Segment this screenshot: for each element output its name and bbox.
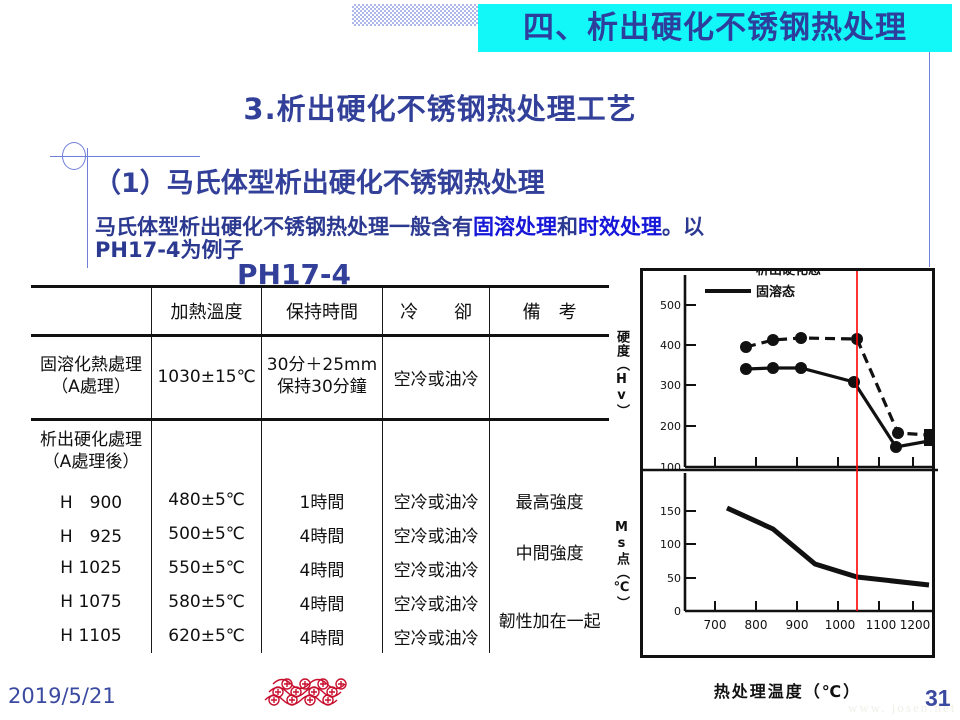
- process-table-container: 加熱溫度 保持時間 冷 卻 備 考 固溶化熱處理（A處理） 1030±15℃ 3…: [31, 285, 609, 653]
- row-h925-temperature: 500±5℃: [152, 517, 262, 551]
- table-row: H 1075 580±5℃ 4時間 空冷或油冷 韌性加在一起: [31, 585, 609, 619]
- svg-text:1000: 1000: [825, 618, 856, 632]
- table-row: 析出硬化處理（A處理後）: [31, 419, 609, 483]
- svg-text:500: 500: [660, 299, 681, 312]
- section-banner: 四、析出硬化不锈钢热处理: [478, 4, 952, 52]
- series-precipitation-hardened-markers: [740, 332, 932, 440]
- svg-text:100: 100: [660, 538, 681, 551]
- row-h1105-temperature: 620±5℃: [152, 619, 262, 653]
- svg-text:900: 900: [786, 618, 809, 632]
- paragraph-highlight-solution: 固溶处理: [473, 215, 557, 239]
- chart-top-ytick-labels: 500 400 300 200 100: [660, 299, 681, 474]
- table-row: H 900 480±5℃ 1時間 空冷或油冷 最高強度: [31, 483, 609, 517]
- row-h925-time: 4時間: [262, 517, 383, 551]
- row-h1105-cooling: 空冷或油冷: [382, 619, 490, 653]
- row-ph-process: 析出硬化處理（A處理後）: [31, 419, 152, 483]
- series-ms-point: [727, 508, 929, 585]
- svg-text:50: 50: [667, 572, 681, 585]
- row-h900-cooling: 空冷或油冷: [382, 483, 490, 517]
- section-banner-title: 四、析出硬化不锈钢热处理: [523, 13, 907, 44]
- row-ph-time: [262, 419, 383, 483]
- paragraph-lead-char: 马: [95, 215, 116, 239]
- row-ph-remark: [490, 419, 609, 483]
- decorative-vertical-rule: [87, 148, 88, 268]
- svg-text:400: 400: [660, 339, 681, 352]
- svg-text:150: 150: [660, 505, 681, 518]
- row-h1025-process: H 1025: [31, 551, 152, 585]
- chart-x-axis-label: 热处理温度（℃）: [640, 678, 935, 702]
- paragraph-part1: 氏体型析出硬化不锈钢热处理一般含有: [116, 215, 473, 239]
- row-solution-temperature: 1030±15℃: [152, 335, 262, 419]
- chart-top-y-axis-label: 硬度（Hv）: [612, 330, 631, 418]
- chart-bottom-yticks: [685, 511, 696, 611]
- decorative-right-vertical-rule: [929, 52, 930, 267]
- chart-bottom-y-axis-label: Ms点（℃）: [612, 520, 631, 610]
- paragraph-highlight-aging: 时效处理: [578, 215, 662, 239]
- body-paragraph: 马氏体型析出硬化不锈钢热处理一般含有固溶处理和时效处理。以 PH17-4为例子: [95, 215, 895, 263]
- svg-text:700: 700: [704, 618, 727, 632]
- svg-text:100: 100: [660, 461, 681, 474]
- row-h1025-cooling: 空冷或油冷: [382, 551, 490, 585]
- svg-text:1100: 1100: [866, 618, 897, 632]
- row-h900-process: H 900: [31, 483, 152, 517]
- paragraph-part2: 。以: [662, 215, 704, 239]
- svg-text:800: 800: [745, 618, 768, 632]
- chart-top-yticks: [685, 305, 696, 467]
- table-header-row: 加熱溫度 保持時間 冷 卻 備 考: [31, 287, 609, 336]
- row-h1025-time: 4時間: [262, 551, 383, 585]
- row-h1075-process: H 1075: [31, 585, 152, 619]
- chart-bottom-ytick-labels: 150 100 50 0: [660, 505, 681, 618]
- paragraph-line2: PH17-4为例子: [95, 238, 895, 263]
- row-h1105-process: H 1105: [31, 619, 152, 653]
- row-ph-cooling: [382, 419, 490, 483]
- row-h1075-temperature: 580±5℃: [152, 585, 262, 619]
- svg-text:300: 300: [660, 379, 681, 392]
- row-h1105-time: 4時間: [262, 619, 383, 653]
- table-header-heating-temperature: 加熱溫度: [152, 287, 262, 336]
- row-solution-cooling: 空冷或油冷: [382, 335, 490, 419]
- chart-svg: 500 400 300 200 100 析出硬化态 固溶态: [643, 271, 938, 661]
- slide-canvas: 四、析出硬化不锈钢热处理 3.析出硬化不锈钢热处理工艺 （1）马氏体型析出硬化不…: [0, 0, 960, 720]
- table-header-blank: [31, 287, 152, 336]
- row-h1075-time: 4時間: [262, 585, 383, 619]
- table-row: 固溶化熱處理（A處理） 1030±15℃ 30分＋25mm保持30分鐘 空冷或油…: [31, 335, 609, 419]
- decorative-circle-icon: [62, 142, 86, 170]
- subsection-heading: （1）马氏体型析出硬化不锈钢热处理: [94, 161, 545, 200]
- chart-bottom-xtick-labels: 700 800 900 1000 1100 1200: [704, 618, 931, 632]
- table-header-remark: 備 考: [490, 287, 609, 336]
- row-h900-temperature: 480±5℃: [152, 483, 262, 517]
- page-number: 31: [925, 685, 951, 712]
- row-h1025-temperature: 550±5℃: [152, 551, 262, 585]
- footer-date: 2019/5/21: [8, 684, 116, 708]
- row-h1075-remark: 韌性加在一起: [490, 585, 609, 653]
- row-h925-cooling: 空冷或油冷: [382, 517, 490, 551]
- row-solution-process: 固溶化熱處理（A處理）: [31, 335, 152, 419]
- chart-legend-precipitation-hardened: 析出硬化态: [756, 271, 821, 278]
- series-precipitation-hardened: [746, 338, 929, 435]
- table-header-cooling: 冷 卻: [382, 287, 490, 336]
- hardness-ms-chart: 500 400 300 200 100 析出硬化态 固溶态: [640, 268, 935, 658]
- table-row: H 925 500±5℃ 4時間 空冷或油冷 中間強度: [31, 517, 609, 551]
- heat-treatment-process-table: 加熱溫度 保持時間 冷 卻 備 考 固溶化熱處理（A處理） 1030±15℃ 3…: [31, 285, 609, 653]
- table-header-holding-time: 保持時間: [262, 287, 383, 336]
- svg-text:0: 0: [674, 605, 681, 618]
- chart-legend-solution-treated: 固溶态: [756, 284, 795, 300]
- row-h925-remark: 中間強度: [490, 517, 609, 585]
- page-title: 3.析出硬化不锈钢热处理工艺: [0, 86, 880, 128]
- chart-top-xticks: [715, 457, 913, 467]
- row-ph-temperature: [152, 419, 262, 483]
- row-h900-remark: 最高強度: [490, 483, 609, 517]
- svg-text:200: 200: [660, 420, 681, 433]
- svg-text:1200: 1200: [900, 618, 931, 632]
- row-h1075-cooling: 空冷或油冷: [382, 585, 490, 619]
- chart-bottom-xticks: [715, 601, 913, 611]
- row-h900-time: 1時間: [262, 483, 383, 517]
- organization-seal-logo: [255, 662, 355, 714]
- chart-legend: 析出硬化态 固溶态: [705, 271, 821, 300]
- row-h925-process: H 925: [31, 517, 152, 551]
- row-solution-time: 30分＋25mm保持30分鐘: [262, 335, 383, 419]
- row-solution-remark: [490, 335, 609, 419]
- paragraph-middle: 和: [557, 215, 578, 239]
